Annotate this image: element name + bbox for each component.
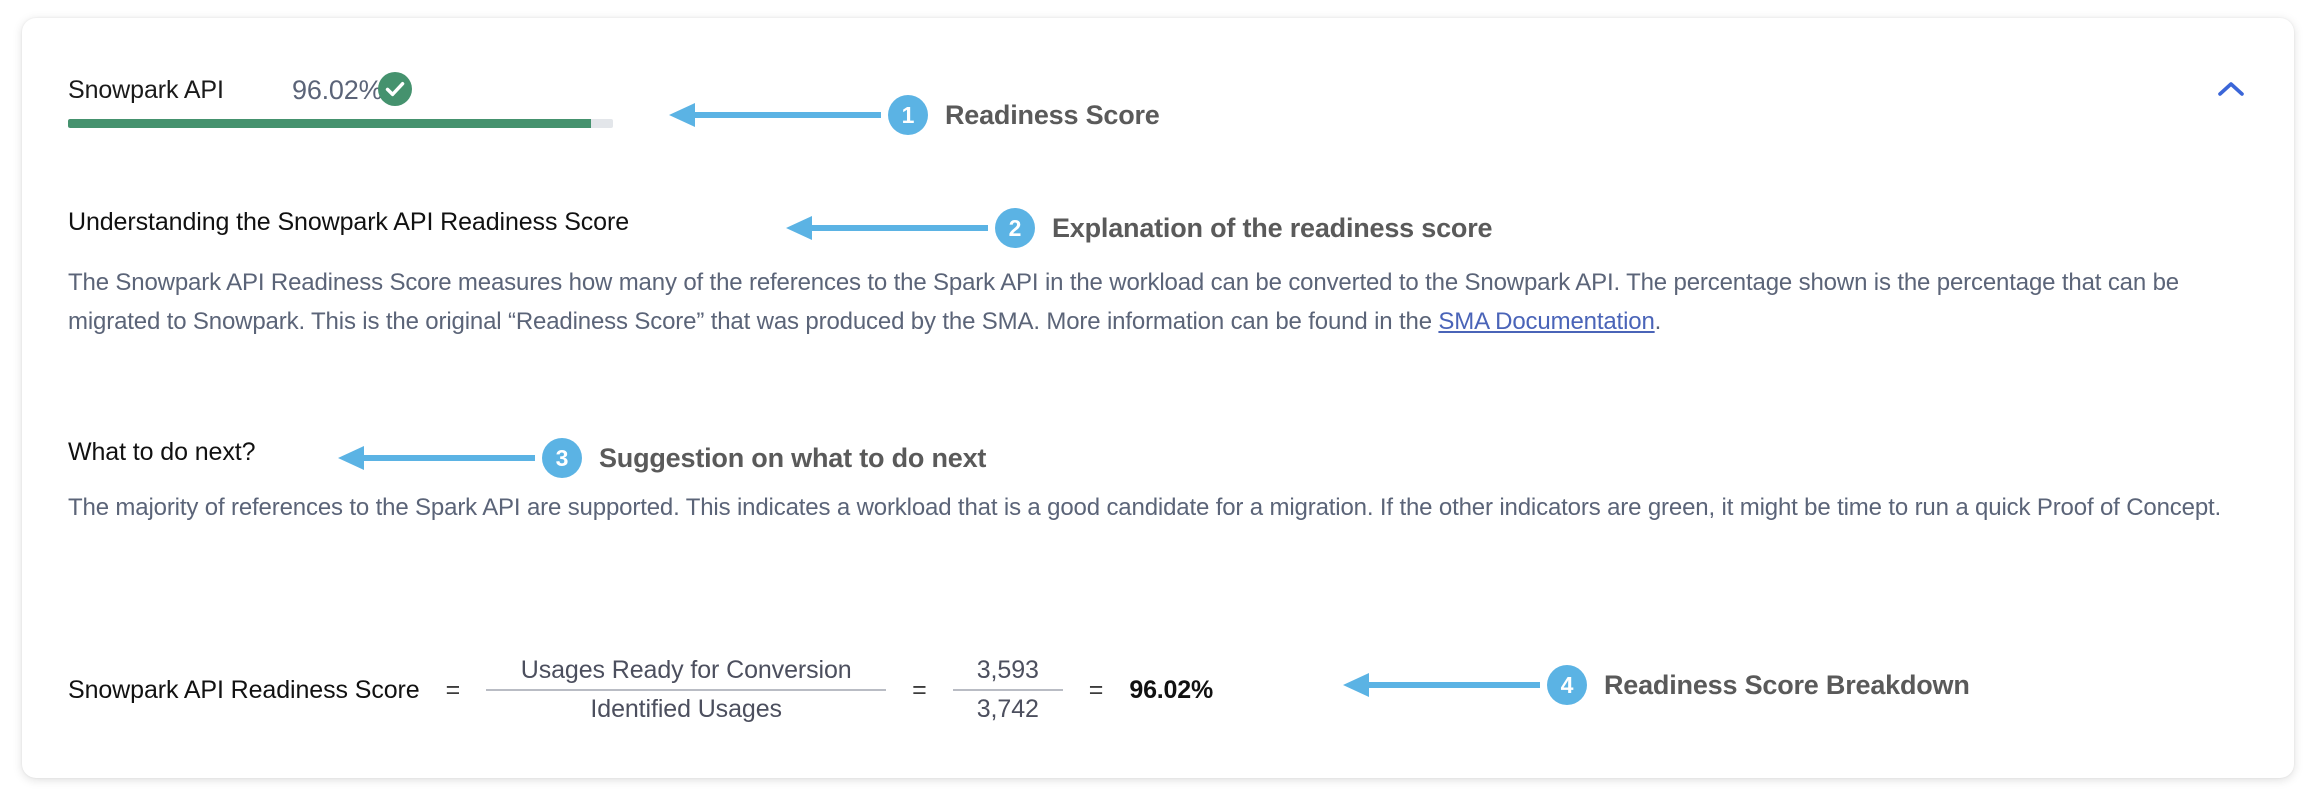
check-circle-icon <box>378 72 412 106</box>
formula-numerator-text: Usages Ready for Conversion <box>511 652 862 689</box>
section-paragraph-understanding: The Snowpark API Readiness Score measure… <box>68 263 2238 341</box>
readiness-score-value: 96.02% <box>292 75 382 106</box>
annotation-1: 1 Readiness Score <box>668 93 1160 137</box>
annotation-arrow-left-icon <box>337 442 542 474</box>
formula-label: Snowpark API Readiness Score <box>68 676 420 705</box>
formula-equals-1: = <box>446 676 461 705</box>
annotation-label-2: Explanation of the readiness score <box>1052 213 1492 244</box>
annotation-2: 2 Explanation of the readiness score <box>785 206 1492 250</box>
formula-equals-3: = <box>1089 676 1104 705</box>
annotation-label-3: Suggestion on what to do next <box>599 443 986 474</box>
annotation-badge-2: 2 <box>995 208 1035 248</box>
paragraph-text-part-2: . <box>1655 308 1662 335</box>
annotation-arrow-left-icon <box>785 212 995 244</box>
formula-fraction-terms: Usages Ready for Conversion Identified U… <box>486 652 886 728</box>
formula-equals-2: = <box>912 676 927 705</box>
annotation-4: 4 Readiness Score Breakdown <box>1342 663 1970 707</box>
section-heading-understanding: Understanding the Snowpark API Readiness… <box>68 208 629 237</box>
annotation-label-4: Readiness Score Breakdown <box>1604 670 1970 701</box>
formula-numerator-value: 3,593 <box>967 652 1049 689</box>
annotation-arrow-left-icon <box>668 99 888 131</box>
screenshot-root: Snowpark API 96.02% <box>0 0 2316 804</box>
section-heading-what-next: What to do next? <box>68 438 255 467</box>
annotation-badge-4: 4 <box>1547 665 1587 705</box>
annotation-badge-3: 3 <box>542 438 582 478</box>
chevron-up-icon[interactable] <box>2214 76 2248 102</box>
readiness-progress-bar <box>68 119 613 128</box>
readiness-score-formula: Snowpark API Readiness Score = Usages Re… <box>68 630 1213 750</box>
sma-documentation-link[interactable]: SMA Documentation <box>1438 308 1654 335</box>
formula-result: 96.02% <box>1129 676 1213 705</box>
page-title: Snowpark API <box>68 76 224 105</box>
annotation-3: 3 Suggestion on what to do next <box>337 436 986 480</box>
section-paragraph-what-next: The majority of references to the Spark … <box>68 488 2248 527</box>
annotation-arrow-left-icon <box>1342 669 1547 701</box>
annotation-label-1: Readiness Score <box>945 100 1160 131</box>
formula-fraction-values: 3,593 3,742 <box>953 652 1063 728</box>
annotation-badge-1: 1 <box>888 95 928 135</box>
formula-denominator-text: Identified Usages <box>580 691 791 728</box>
readiness-progress-fill <box>68 119 591 128</box>
formula-denominator-value: 3,742 <box>967 691 1049 728</box>
readiness-score-card: Snowpark API 96.02% <box>22 18 2294 778</box>
paragraph-text-part-1: The Snowpark API Readiness Score measure… <box>68 269 2179 335</box>
